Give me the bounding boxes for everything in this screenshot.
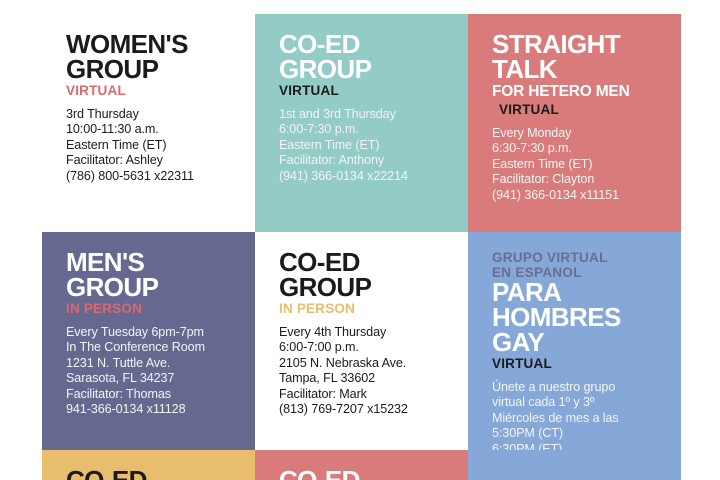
card-blue-partial[interactable] <box>468 450 681 480</box>
detail-line: 6:00-7:00 p.m. <box>279 340 452 355</box>
detail-line: 6:30-7:30 p.m. <box>492 141 665 156</box>
detail-line: Facilitator: Anthony <box>279 153 452 168</box>
card-title-line1: CO-ED <box>279 468 452 480</box>
card-modality-badge: VIRTUAL <box>279 83 452 98</box>
card-title-line3: GAY <box>492 330 665 355</box>
card-co-ed-salmon[interactable]: CO-ED <box>255 450 468 480</box>
detail-line-phone[interactable]: (813) 769-7207 x15232 <box>279 402 452 417</box>
card-details: Únete a nuestro grupo virtual cada 1º y … <box>492 380 665 450</box>
detail-line-address: Tampa, FL 33602 <box>279 371 452 386</box>
detail-line-phone[interactable]: (941) 366-0134 x22214 <box>279 169 452 184</box>
detail-line: Facilitator: Thomas <box>66 387 239 402</box>
detail-line: Únete a nuestro grupo <box>492 380 665 395</box>
card-modality-badge: IN PERSON <box>66 301 239 316</box>
detail-line: Every Tuesday 6pm-7pm <box>66 325 239 340</box>
detail-line-address: Sarasota, FL 34237 <box>66 371 239 386</box>
card-title-line2: GROUP <box>66 275 239 300</box>
detail-line: Miércoles de mes a las <box>492 411 665 426</box>
detail-line: In The Conference Room <box>66 340 239 355</box>
detail-line-address: 2105 N. Nebraska Ave. <box>279 356 452 371</box>
card-subtitle: FOR HETERO MEN <box>492 83 665 101</box>
detail-line-phone[interactable]: (786) 800-5631 x22311 <box>66 169 239 184</box>
detail-line: virtual cada 1º y 3º <box>492 395 665 410</box>
detail-line: Facilitator: Clayton <box>492 172 665 187</box>
detail-line: 10:00-11:30 a.m. <box>66 122 239 137</box>
detail-line-address: 1231 N. Tuttle Ave. <box>66 356 239 371</box>
card-modality-badge: IN PERSON <box>279 301 452 316</box>
card-title-line2: GROUP <box>279 275 452 300</box>
detail-line-phone[interactable]: (941) 366-0134 x11151 <box>492 188 665 203</box>
card-title-line1: CO-ED <box>66 468 239 480</box>
card-para-hombres-gay[interactable]: GRUPO VIRTUAL EN ESPANOL PARA HOMBRES GA… <box>468 232 681 450</box>
card-details: Every Tuesday 6pm-7pm In The Conference … <box>66 325 239 417</box>
card-modality-badge: VIRTUAL <box>66 83 239 98</box>
detail-line: 6:00-7:30 p.m. <box>279 122 452 137</box>
detail-line: Facilitator: Mark <box>279 387 452 402</box>
detail-line: 5:30PM (CT) <box>492 426 665 441</box>
card-title-line2: GROUP <box>279 57 452 82</box>
card-mens-group[interactable]: MEN'S GROUP IN PERSON Every Tuesday 6pm-… <box>42 232 255 450</box>
detail-line: Eastern Time (ET) <box>66 138 239 153</box>
card-co-ed-group-virtual[interactable]: CO-ED GROUP VIRTUAL 1st and 3rd Thursday… <box>255 14 468 232</box>
detail-line: Every 4th Thursday <box>279 325 452 340</box>
card-co-ed-gold[interactable]: CO-ED <box>42 450 255 480</box>
detail-line: Facilitator: Ashley <box>66 153 239 168</box>
detail-line: 1st and 3rd Thursday <box>279 107 452 122</box>
card-title-line2: GROUP <box>66 57 239 82</box>
card-details: 1st and 3rd Thursday 6:00-7:30 p.m. East… <box>279 107 452 184</box>
detail-line-phone[interactable]: 941-366-0134 x11128 <box>66 402 239 417</box>
card-eyebrow-line1: GRUPO VIRTUAL <box>492 250 665 265</box>
detail-line: 3rd Thursday <box>66 107 239 122</box>
card-details: Every Monday 6:30-7:30 p.m. Eastern Time… <box>492 126 665 203</box>
card-modality-badge: VIRTUAL <box>492 102 665 117</box>
program-schedule-flyer: WOMEN'S GROUP VIRTUAL 3rd Thursday 10:00… <box>0 0 720 480</box>
detail-line: Every Monday <box>492 126 665 141</box>
detail-line: 6:30PM (ET) <box>492 442 665 450</box>
card-womens-group[interactable]: WOMEN'S GROUP VIRTUAL 3rd Thursday 10:00… <box>42 14 255 232</box>
schedule-grid: WOMEN'S GROUP VIRTUAL 3rd Thursday 10:00… <box>42 14 681 480</box>
card-co-ed-group-in-person[interactable]: CO-ED GROUP IN PERSON Every 4th Thursday… <box>255 232 468 450</box>
card-details: 3rd Thursday 10:00-11:30 a.m. Eastern Ti… <box>66 107 239 184</box>
card-details: Every 4th Thursday 6:00-7:00 p.m. 2105 N… <box>279 325 452 417</box>
card-title-line2: TALK <box>492 57 665 82</box>
detail-line: Eastern Time (ET) <box>279 138 452 153</box>
card-straight-talk[interactable]: STRAIGHT TALK FOR HETERO MEN VIRTUAL Eve… <box>468 14 681 232</box>
card-modality-badge: VIRTUAL <box>492 356 665 371</box>
detail-line: Eastern Time (ET) <box>492 157 665 172</box>
